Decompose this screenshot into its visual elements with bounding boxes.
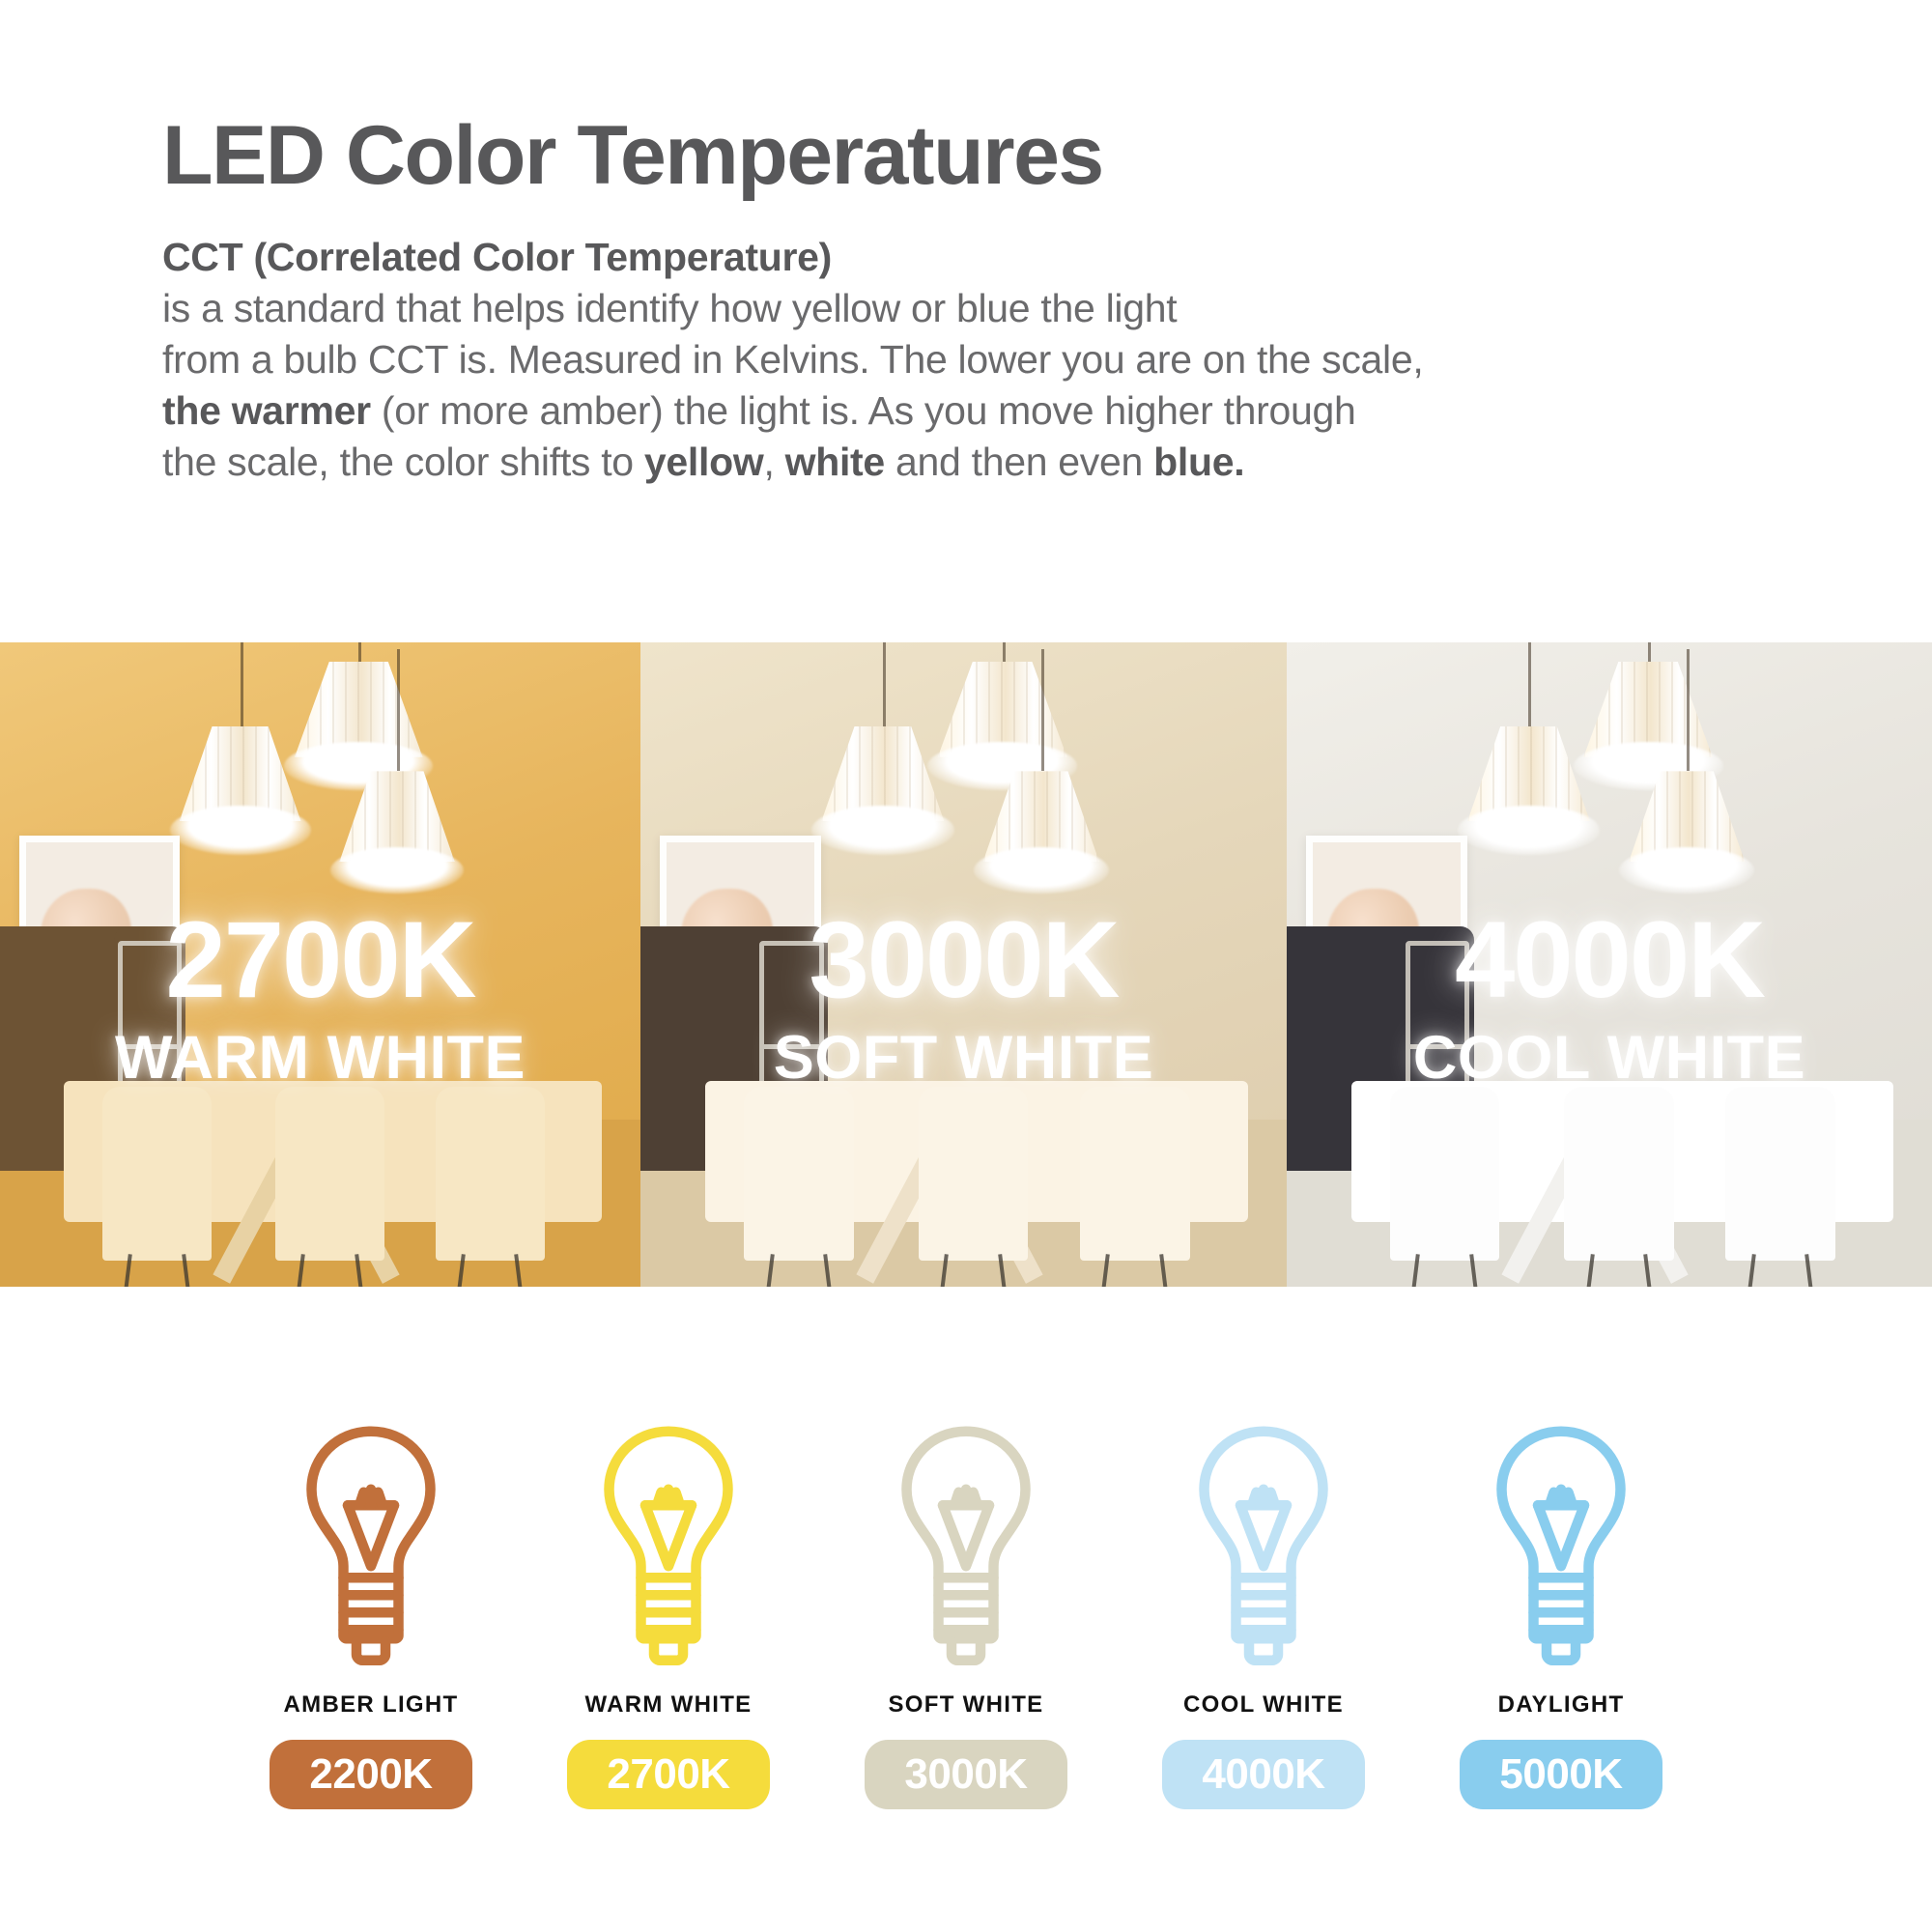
lamp-cord — [1687, 649, 1690, 772]
lightbulb-icon — [1474, 1420, 1648, 1676]
bulb-column-4000k[interactable]: COOL WHITE 4000K — [1143, 1420, 1384, 1809]
lamp-glow — [330, 847, 464, 894]
pendant-lamp-right — [983, 771, 1099, 894]
lamp-cord — [358, 642, 361, 662]
chair-right — [1080, 1087, 1190, 1261]
chair-mid — [275, 1087, 384, 1261]
pendant-lamp-left — [821, 726, 944, 855]
lightbulb-icon — [582, 1420, 755, 1676]
intro-paragraph: CCT (Correlated Color Temperature) is a … — [162, 232, 1804, 487]
lamp-cord — [1003, 642, 1006, 662]
bulb-label: SOFT WHITE — [889, 1691, 1044, 1719]
bulb-column-5000k[interactable]: DAYLIGHT 5000K — [1440, 1420, 1682, 1809]
bulb-label: COOL WHITE — [1183, 1691, 1344, 1719]
pendant-lamp-right — [1629, 771, 1745, 894]
chair-mid — [919, 1087, 1029, 1261]
intro-bold-yellow: yellow — [644, 440, 764, 484]
kelvin-pill[interactable]: 2700K — [567, 1740, 770, 1809]
kelvin-pill[interactable]: 2200K — [270, 1740, 472, 1809]
bulb-column-2700k[interactable]: WARM WHITE 2700K — [548, 1420, 789, 1809]
bulb-label: DAYLIGHT — [1498, 1691, 1625, 1719]
intro-bold-warmer: the warmer — [162, 388, 371, 433]
lamp-glow — [1619, 847, 1753, 894]
intro-bold-white: white — [785, 440, 885, 484]
room-scene — [640, 642, 1287, 1287]
lightbulb-icon — [1177, 1420, 1350, 1676]
lamp-glow — [811, 806, 953, 855]
chair-mid — [1564, 1087, 1674, 1261]
lamp-cord — [1648, 642, 1651, 662]
bulb-label: AMBER LIGHT — [284, 1691, 459, 1719]
bulb-label: WARM WHITE — [585, 1691, 753, 1719]
lamp-cord — [1528, 642, 1531, 726]
room-panel-3000k: 3000K SOFT WHITE — [640, 642, 1287, 1287]
chair-left — [1390, 1087, 1500, 1261]
chair-left — [744, 1087, 854, 1261]
chair-right — [436, 1087, 545, 1261]
lamp-cord — [1041, 649, 1044, 772]
lamp-cord — [241, 642, 243, 726]
intro-line-1: is a standard that helps identify how ye… — [162, 286, 1177, 330]
room-panel-2700k: 2700K WARM WHITE — [0, 642, 640, 1287]
intro-line-2: from a bulb CCT is. Measured in Kelvins.… — [162, 337, 1423, 382]
room-photo-strip: 2700K WARM WHITE — [0, 642, 1932, 1287]
lamp-cord — [883, 642, 886, 726]
bulb-temperature-scale: AMBER LIGHT 2200K WARM WHITE 2700K — [0, 1420, 1932, 1809]
kelvin-pill[interactable]: 3000K — [865, 1740, 1067, 1809]
pendant-lamp-left — [180, 726, 301, 855]
lamp-cord — [397, 649, 400, 772]
header-block: LED Color Temperatures CCT (Correlated C… — [162, 114, 1804, 487]
intro-bold-blue: blue. — [1153, 440, 1244, 484]
kelvin-pill[interactable]: 4000K — [1162, 1740, 1365, 1809]
cct-definition-lead: CCT (Correlated Color Temperature) — [162, 232, 1804, 283]
chair-left — [102, 1087, 212, 1261]
room-scene — [0, 642, 640, 1287]
room-panel-4000k: 4000K COOL WHITE — [1287, 642, 1932, 1287]
room-scene — [1287, 642, 1932, 1287]
lamp-glow — [1458, 806, 1600, 855]
lamp-glow — [974, 847, 1109, 894]
bulb-column-3000k[interactable]: SOFT WHITE 3000K — [845, 1420, 1087, 1809]
chair-right — [1725, 1087, 1835, 1261]
infographic-page: LED Color Temperatures CCT (Correlated C… — [0, 0, 1932, 1932]
intro-line-3: (or more amber) the light is. As you mov… — [371, 388, 1356, 433]
lamp-glow — [170, 806, 311, 855]
bulb-column-2200k[interactable]: AMBER LIGHT 2200K — [250, 1420, 492, 1809]
intro-line-4a: the scale, the color shifts to — [162, 440, 644, 484]
intro-line-4-sep: , — [763, 440, 784, 484]
lightbulb-icon — [879, 1420, 1053, 1676]
pendant-lamp-left — [1467, 726, 1590, 855]
pendant-lamp-right — [339, 771, 454, 894]
page-title: LED Color Temperatures — [162, 114, 1804, 197]
intro-line-4d: and then even — [885, 440, 1153, 484]
lightbulb-icon — [284, 1420, 458, 1676]
kelvin-pill[interactable]: 5000K — [1460, 1740, 1662, 1809]
